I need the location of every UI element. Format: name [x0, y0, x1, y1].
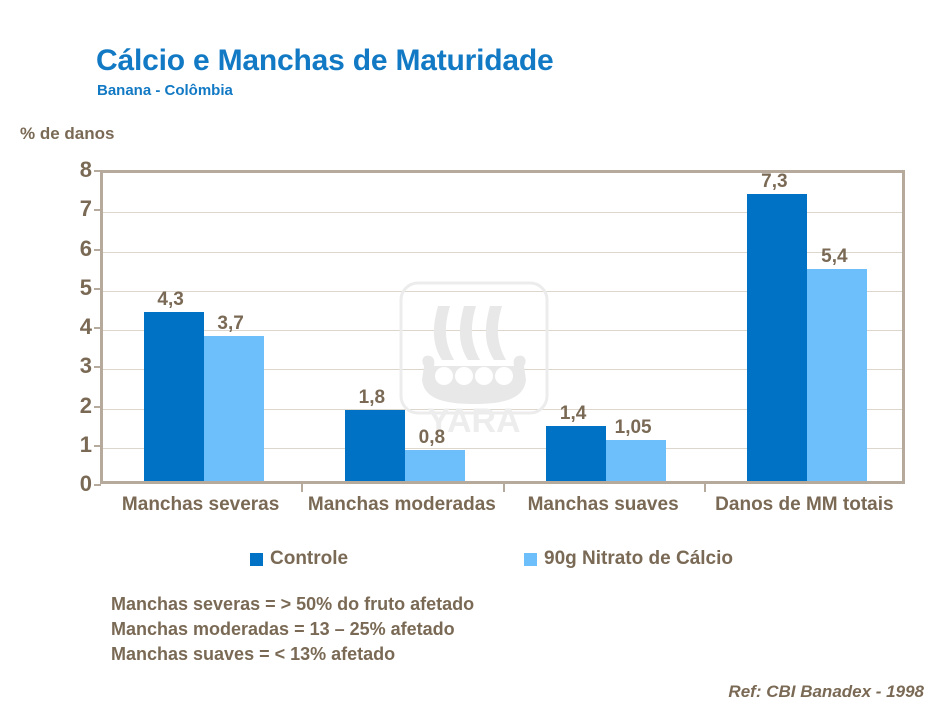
bar-nitrato-0 [204, 336, 264, 481]
bar-controle-0 [144, 312, 204, 481]
chart-legend: Controle90g Nitrato de Cálcio [100, 548, 905, 574]
bar-value-label: 0,8 [390, 427, 474, 449]
bar-value-label: 4,3 [129, 289, 213, 311]
page-title: Cálcio e Manchas de Maturidade [96, 44, 553, 78]
bar-controle-3 [747, 194, 807, 481]
y-axis-tick-8: 8 [62, 157, 92, 183]
y-axis-tick-6: 6 [62, 236, 92, 262]
y-axis-tick-labels: 012345678 [52, 170, 92, 484]
bar-value-label: 7,3 [732, 171, 816, 193]
y-axis-tick-3: 3 [62, 353, 92, 379]
y-axis-tick-1: 1 [62, 432, 92, 458]
y-axis-tickmark [94, 445, 101, 447]
legend-swatch-icon [250, 553, 263, 566]
legend-item-nitrato[interactable]: 90g Nitrato de Cálcio [524, 548, 733, 570]
bar-nitrato-1 [405, 450, 465, 481]
y-axis-tickmark [94, 327, 101, 329]
reference-source: Ref: CBI Banadex - 1998 [728, 682, 924, 702]
bar-value-label: 1,05 [591, 417, 675, 439]
bar-nitrato-2 [606, 440, 666, 481]
bar-value-label: 1,8 [330, 387, 414, 409]
y-axis-title: % de danos [20, 124, 114, 144]
category-tickmark [301, 484, 303, 492]
bar-nitrato-3 [807, 269, 867, 481]
y-axis-tick-4: 4 [62, 314, 92, 340]
y-axis-tick-7: 7 [62, 196, 92, 222]
y-axis-tick-2: 2 [62, 393, 92, 419]
y-axis-tick-0: 0 [62, 471, 92, 497]
legend-label: 90g Nitrato de Cálcio [544, 548, 733, 570]
bar-value-label: 3,7 [189, 313, 273, 335]
footnote-definitions: Manchas severas = > 50% do fruto afetado… [111, 592, 474, 667]
category-label-1: Manchas moderadas [301, 492, 502, 517]
chart-subtitle: Banana - Colômbia [97, 82, 233, 99]
y-axis-tickmark [94, 484, 101, 486]
y-axis-tickmark [94, 288, 101, 290]
y-axis-tickmark [94, 366, 101, 368]
category-tickmark [503, 484, 505, 492]
footnote-line-1: Manchas moderadas = 13 – 25% afetado [111, 617, 474, 642]
y-axis-tickmark [94, 249, 101, 251]
footnote-line-0: Manchas severas = > 50% do fruto afetado [111, 592, 474, 617]
category-axis-labels: Manchas severasManchas moderadasManchas … [100, 492, 905, 550]
footnote-line-2: Manchas suaves = < 13% afetado [111, 642, 474, 667]
legend-item-controle[interactable]: Controle [250, 548, 348, 570]
y-axis-tickmark [94, 406, 101, 408]
category-label-2: Manchas suaves [503, 492, 704, 517]
y-axis-tickmark [94, 209, 101, 211]
category-label-0: Manchas severas [100, 492, 301, 517]
bar-value-label: 5,4 [792, 246, 876, 268]
legend-label: Controle [270, 548, 348, 570]
y-axis-tickmark [94, 170, 101, 172]
legend-swatch-icon [524, 553, 537, 566]
y-axis-tick-5: 5 [62, 275, 92, 301]
category-tickmark [704, 484, 706, 492]
category-label-3: Danos de MM totais [704, 492, 905, 517]
